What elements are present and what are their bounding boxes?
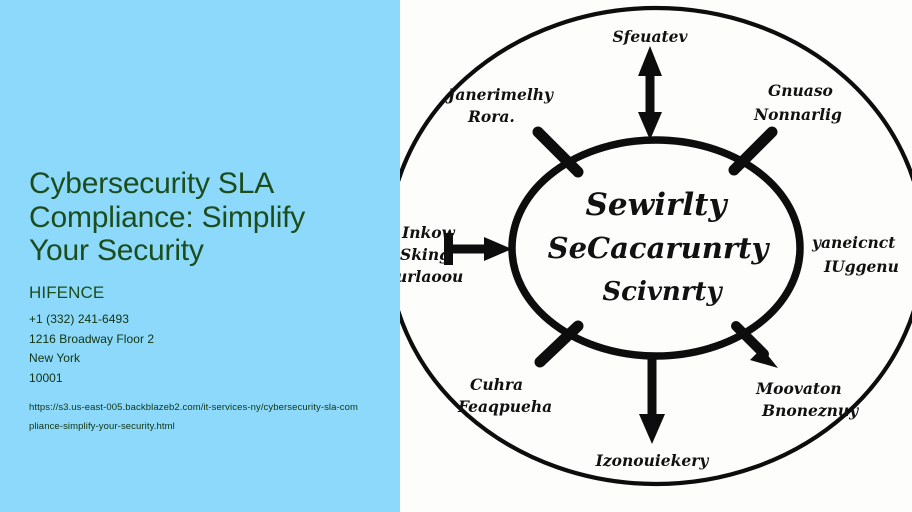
spoke-label-right-line-2: IUggenu [823,257,899,276]
connector-top-double-arrow [638,46,662,140]
spoke-label-bottom: Izonouiekery [595,451,710,470]
spoke-label-top-right-line-2: Nonnarlig [753,105,842,124]
address-zip: 10001 [29,369,374,389]
source-url-link[interactable]: https://s3.us-east-005.backblazeb2.com/i… [29,399,363,436]
core-label-line-2: SeCacarunrty [548,231,771,265]
core-label-line-3: Scivnrty [602,277,723,307]
spoke-label-left-line-2: Sking [400,245,450,264]
spoke-label-bottom-right-line-1: Moovaton [755,379,842,398]
page-title: Cybersecurity SLA Compliance: Simplify Y… [29,167,349,268]
spoke-label-bottom-left-line-2: Feaqpueha [457,397,552,416]
spoke-label-top-left-line-1: Janerimelhy [445,85,554,104]
core-label-line-1: Sewirlty [585,187,728,223]
spoke-label-bottom-right-line-2: Bnoneznuy [761,401,859,420]
address-street: 1216 Broadway Floor 2 [29,330,374,350]
spoke-label-bottom-left-line-1: Cuhra [470,375,523,394]
phone-number: +1 (332) 241-6493 [29,310,374,330]
security-radial-diagram: Sewirlty SeCacarunrty Scivnrty Sfeuatev … [400,0,912,512]
spoke-label-left-line-1: Inkow [401,223,456,242]
address-city: New York [29,349,374,369]
spoke-label-top: Sfeuatev [612,27,688,46]
organization-name: HIFENCE [29,282,374,304]
spoke-label-right-line-1: yaneicnct [811,233,896,252]
page-root: Cybersecurity SLA Compliance: Simplify Y… [0,0,912,512]
diagram-panel: Sewirlty SeCacarunrty Scivnrty Sfeuatev … [400,0,912,512]
spoke-label-top-right-line-1: Gnuaso [768,81,833,100]
spoke-label-top-left-line-2: Rora. [467,107,515,126]
info-panel: Cybersecurity SLA Compliance: Simplify Y… [0,0,400,512]
connector-bottom-right-arrow [736,326,778,368]
info-panel-content: Cybersecurity SLA Compliance: Simplify Y… [29,167,374,436]
spoke-label-left-line-3: urlaoou [400,267,463,286]
connector-bottom-down-arrow [639,360,665,444]
